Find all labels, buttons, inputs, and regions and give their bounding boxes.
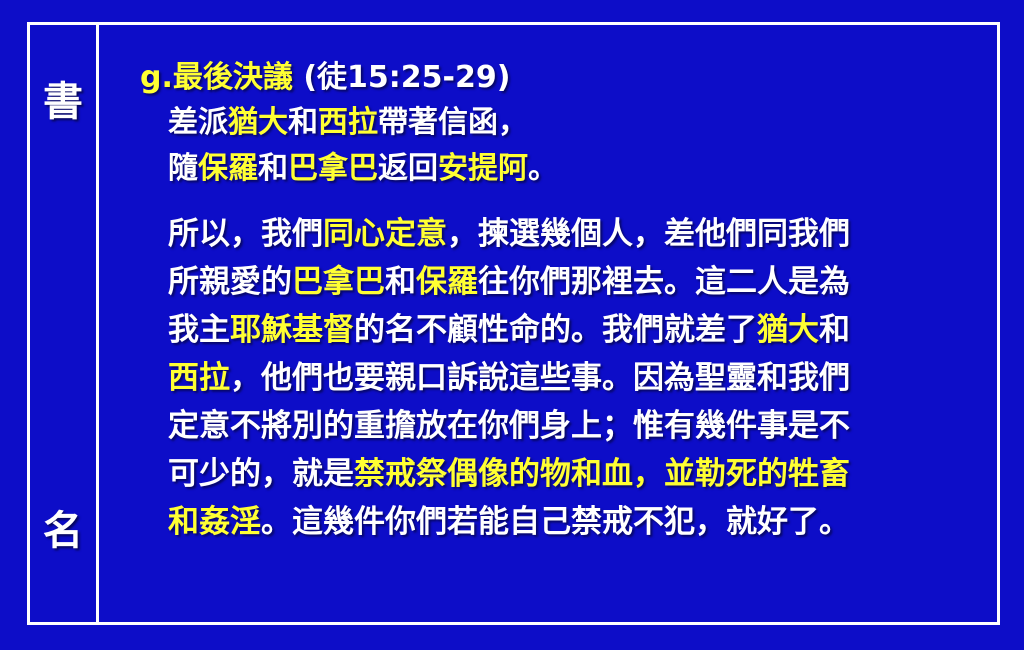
scripture-line-2-run-5: 往你們那裡去。這二人是為 [478,264,850,300]
scripture-line-4: 西拉，他們也要親口訴說這些事。因為聖靈和我們 [168,354,988,402]
scripture-line-3: 我主耶穌基督的名不顧性命的。我們就差了猶大和 [168,306,988,354]
summary-line-1: 差派猶大和西拉帶著信函， [168,100,988,146]
scripture-line-7: 和姦淫。這幾件你們若能自己禁戒不犯，就好了。 [168,498,988,546]
summary-line-2: 隨保羅和巴拿巴返回安提阿。 [168,146,988,192]
slide-content: g.最後決議 (徒15:25-29) 差派猶大和西拉帶著信函，隨保羅和巴拿巴返回… [118,56,988,606]
scripture-line-3-run-1: 我主 [168,312,230,348]
summary-block: 差派猶大和西拉帶著信函，隨保羅和巴拿巴返回安提阿。 [118,100,988,192]
summary-line-2-run-5: 返回 [378,151,438,186]
scripture-line-2: 所親愛的巴拿巴和保羅往你們那裡去。這二人是為 [168,258,988,306]
slide-canvas: 書 名 g.最後決議 (徒15:25-29) 差派猶大和西拉帶著信函，隨保羅和巴… [0,0,1024,650]
scripture-line-3-run-4: 猶大 [757,312,819,348]
summary-line-2-run-7: 。 [528,151,558,186]
summary-line-2-run-1: 隨 [168,151,198,186]
section-heading: g.最後決議 (徒15:25-29) [140,56,988,100]
summary-line-1-run-2: 猶大 [228,105,288,140]
scripture-paragraph: 所以，我們同心定意，揀選幾個人，差他們同我們所親愛的巴拿巴和保羅往你們那裡去。這… [168,210,988,546]
scripture-line-7-run-2: 。這幾件你們若能自己禁戒不犯，就好了。 [261,504,850,540]
scripture-line-7-run-1: 和姦淫 [168,504,261,540]
scripture-line-4-run-1: 西拉 [168,360,230,396]
scripture-line-6-run-1: 可少的，就是 [168,456,354,492]
scripture-line-2-run-4: 保羅 [416,264,478,300]
scripture-line-6: 可少的，就是禁戒祭偶像的物和血，並勒死的牲畜 [168,450,988,498]
scripture-line-3-run-2: 耶穌基督 [230,312,354,348]
scripture-line-2-run-3: 和 [385,264,416,300]
scripture-line-3-run-5: 和 [819,312,850,348]
scripture-line-5: 定意不將別的重擔放在你們身上；惟有幾件事是不 [168,402,988,450]
summary-line-1-run-1: 差派 [168,105,228,140]
heading-spacer [293,60,303,95]
scripture-line-2-run-2: 巴拿巴 [292,264,385,300]
scripture-line-6-run-2: 禁戒祭偶像的物和血，並勒死的牲畜 [354,456,850,492]
scripture-line-2-run-1: 所親愛的 [168,264,292,300]
scripture-line-5-run-1: 定意不將別的重擔放在你們身上；惟有幾件事是不 [168,408,850,444]
heading-marker: g. [140,60,173,95]
scripture-line-1-run-3: ，揀選幾個人，差他們同我們 [447,216,850,252]
summary-line-1-run-4: 西拉 [318,105,378,140]
heading-title: 最後決議 [173,60,293,95]
scripture-line-1: 所以，我們同心定意，揀選幾個人，差他們同我們 [168,210,988,258]
summary-line-2-run-2: 保羅 [198,151,258,186]
sidebar-label-top: 書 [40,79,86,125]
summary-line-2-run-4: 巴拿巴 [288,151,378,186]
scripture-line-4-run-2: ，他們也要親口訴說這些事。因為聖靈和我們 [230,360,850,396]
scripture-line-1-run-1: 所以，我們 [168,216,323,252]
summary-line-2-run-3: 和 [258,151,288,186]
sidebar-divider [96,22,99,625]
summary-line-1-run-5: 帶著信函， [378,105,528,140]
heading-reference: (徒15:25-29) [303,60,510,95]
summary-line-2-run-6: 安提阿 [438,151,528,186]
sidebar-label-bottom: 名 [40,508,86,554]
scripture-line-1-run-2: 同心定意 [323,216,447,252]
scripture-line-3-run-3: 的名不顧性命的。我們就差了 [354,312,757,348]
summary-line-1-run-3: 和 [288,105,318,140]
